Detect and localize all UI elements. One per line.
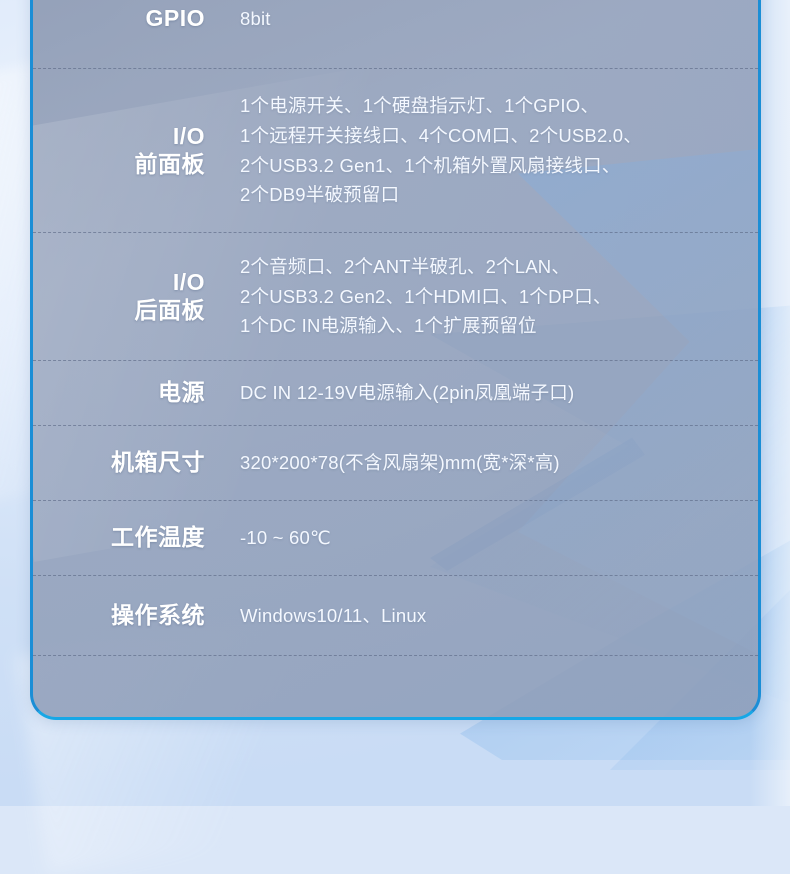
spec-row-io-rear-panel: I/O 后面板 2个音频口、2个ANT半破孔、2个LAN、 2个USB3.2 G… <box>33 232 758 360</box>
spec-row-io-front-panel: I/O 前面板 1个电源开关、1个硬盘指示灯、1个GPIO、 1个远程开关接线口… <box>33 68 758 232</box>
spec-label-operating-system: 操作系统 <box>53 602 213 629</box>
spec-value-operating-temperature: -10 ~ 60℃ <box>213 523 740 553</box>
spec-label-io-front-panel: I/O 前面板 <box>53 123 213 177</box>
spec-value-power: DC IN 12-19V电源输入(2pin凤凰端子口) <box>213 378 740 408</box>
spec-row-chassis-size: 机箱尺寸 320*200*78(不含风扇架)mm(宽*深*高) <box>33 425 758 500</box>
spec-row-operating-system: 操作系统 Windows10/11、Linux <box>33 575 758 655</box>
spec-label-operating-temperature: 工作温度 <box>53 524 213 551</box>
spec-row-trailing-empty <box>33 655 758 720</box>
specification-card: GPIO 8bit I/O 前面板 1个电源开关、1个硬盘指示灯、1个GPIO、… <box>30 0 761 720</box>
spec-row-gpio: GPIO 8bit <box>33 0 758 68</box>
spec-value-gpio: 8bit <box>213 4 740 34</box>
spec-label-power: 电源 <box>53 379 213 406</box>
spec-label-io-rear-panel: I/O 后面板 <box>53 269 213 323</box>
spec-label-gpio: GPIO <box>53 5 213 32</box>
specification-table: GPIO 8bit I/O 前面板 1个电源开关、1个硬盘指示灯、1个GPIO、… <box>33 0 758 720</box>
spec-row-power: 电源 DC IN 12-19V电源输入(2pin凤凰端子口) <box>33 360 758 425</box>
spec-row-operating-temperature: 工作温度 -10 ~ 60℃ <box>33 500 758 575</box>
spec-value-operating-system: Windows10/11、Linux <box>213 601 740 631</box>
spec-value-chassis-size: 320*200*78(不含风扇架)mm(宽*深*高) <box>213 448 740 478</box>
spec-label-chassis-size: 机箱尺寸 <box>53 449 213 476</box>
spec-value-io-rear-panel: 2个音频口、2个ANT半破孔、2个LAN、 2个USB3.2 Gen2、1个HD… <box>213 252 740 342</box>
spec-value-io-front-panel: 1个电源开关、1个硬盘指示灯、1个GPIO、 1个远程开关接线口、4个COM口、… <box>213 91 740 211</box>
